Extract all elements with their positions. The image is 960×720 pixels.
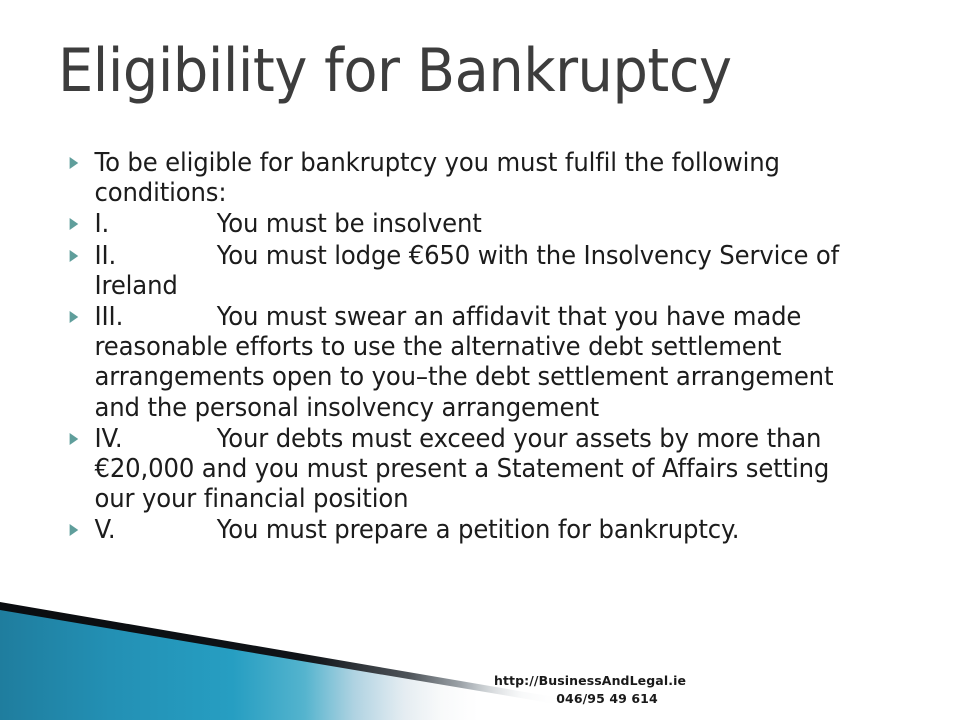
triangle-bullet-icon (70, 311, 79, 323)
footer-contact: http://BusinessAndLegal.ie 046/95 49 614 (440, 672, 740, 708)
triangle-bullet-icon (70, 524, 79, 536)
triangle-bullet-icon (70, 433, 79, 445)
list-item-numeral: I. (94, 209, 216, 239)
list-item-text: You must be insolvent (217, 209, 482, 239)
list-item-numeral: II. (94, 241, 216, 271)
list-item-text: You must prepare a petition for bankrupt… (217, 515, 740, 545)
bullet-list: To be eligible for bankruptcy you must f… (62, 148, 907, 547)
footer-phone: 046/95 49 614 (440, 690, 740, 708)
footer-website: http://BusinessAndLegal.ie (440, 672, 740, 690)
list-item: III.You must swear an affidavit that you… (62, 302, 869, 423)
list-item-numeral: IV. (94, 424, 216, 454)
list-item: IV.Your debts must exceed your assets by… (62, 424, 869, 515)
triangle-bullet-icon (70, 157, 79, 169)
list-item-numeral: III. (94, 302, 216, 332)
list-item-numeral: V. (94, 515, 216, 545)
list-item: II.You must lodge €650 with the Insolven… (62, 241, 869, 301)
list-item-text: To be eligible for bankruptcy you must f… (94, 148, 779, 208)
slide-canvas: Eligibility for Bankruptcy To be eligibl… (0, 0, 960, 720)
triangle-bullet-icon (70, 250, 79, 262)
triangle-bullet-icon (70, 218, 79, 230)
list-item: V.You must prepare a petition for bankru… (62, 515, 869, 545)
list-item: To be eligible for bankruptcy you must f… (62, 148, 869, 208)
list-item: I.You must be insolvent (62, 209, 869, 239)
page-title: Eligibility for Bankruptcy (58, 40, 849, 103)
